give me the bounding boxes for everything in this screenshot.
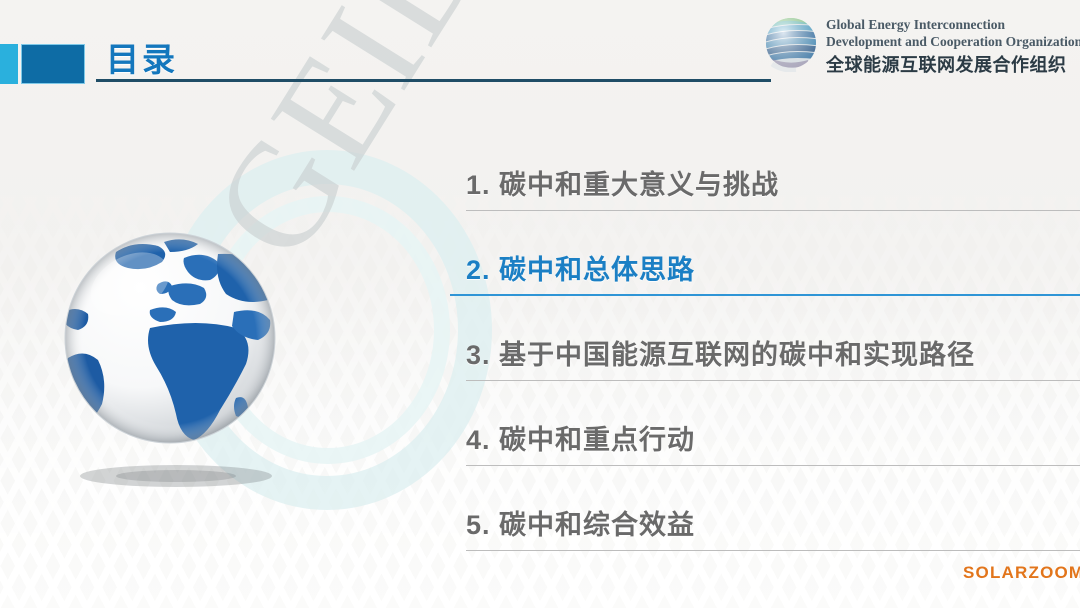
solarzoom-watermark: SOLARZOOM [963,563,1080,583]
header-accent-block-blue [21,44,85,84]
geidco-logo-text: Global Energy Interconnection Developmen… [826,16,1074,78]
toc-item-5-rule [466,550,1080,552]
logo-line-cn: 全球能源互联网发展合作组织 [826,52,1074,78]
toc-item-3[interactable]: 3. 基于中国能源互联网的碳中和实现路径 [452,296,1052,381]
logo-line-en-1: Global Energy Interconnection [826,16,1074,33]
logo-line-en-2: Development and Cooperation Organization [826,33,1074,50]
header-divider-rule [96,79,771,82]
toc-item-2[interactable]: 2. 碳中和总体思路 [452,211,1052,296]
toc-item-1-label: 1. 碳中和重大意义与挑战 [466,163,779,202]
toc-item-5[interactable]: 5. 碳中和综合效益 [452,466,1052,551]
slide-canvas: GEIDCO 目录 [0,0,1080,608]
toc-item-5-label: 5. 碳中和综合效益 [466,503,695,542]
geidco-globe-logo-icon [762,14,820,72]
header-accent-block-cyan [0,44,18,84]
toc-item-1[interactable]: 1. 碳中和重大意义与挑战 [452,126,1052,211]
table-of-contents: 1. 碳中和重大意义与挑战 2. 碳中和总体思路 3. 基于中国能源互联网的碳中… [452,126,1052,551]
toc-item-4[interactable]: 4. 碳中和重点行动 [452,381,1052,466]
geidco-logo: Global Energy Interconnection Developmen… [762,10,1074,84]
globe-illustration [58,228,296,493]
page-title: 目录 [106,33,178,81]
toc-item-3-label: 3. 基于中国能源互联网的碳中和实现路径 [466,333,975,372]
toc-item-4-label: 4. 碳中和重点行动 [466,418,695,457]
toc-item-2-label: 2. 碳中和总体思路 [466,248,695,287]
